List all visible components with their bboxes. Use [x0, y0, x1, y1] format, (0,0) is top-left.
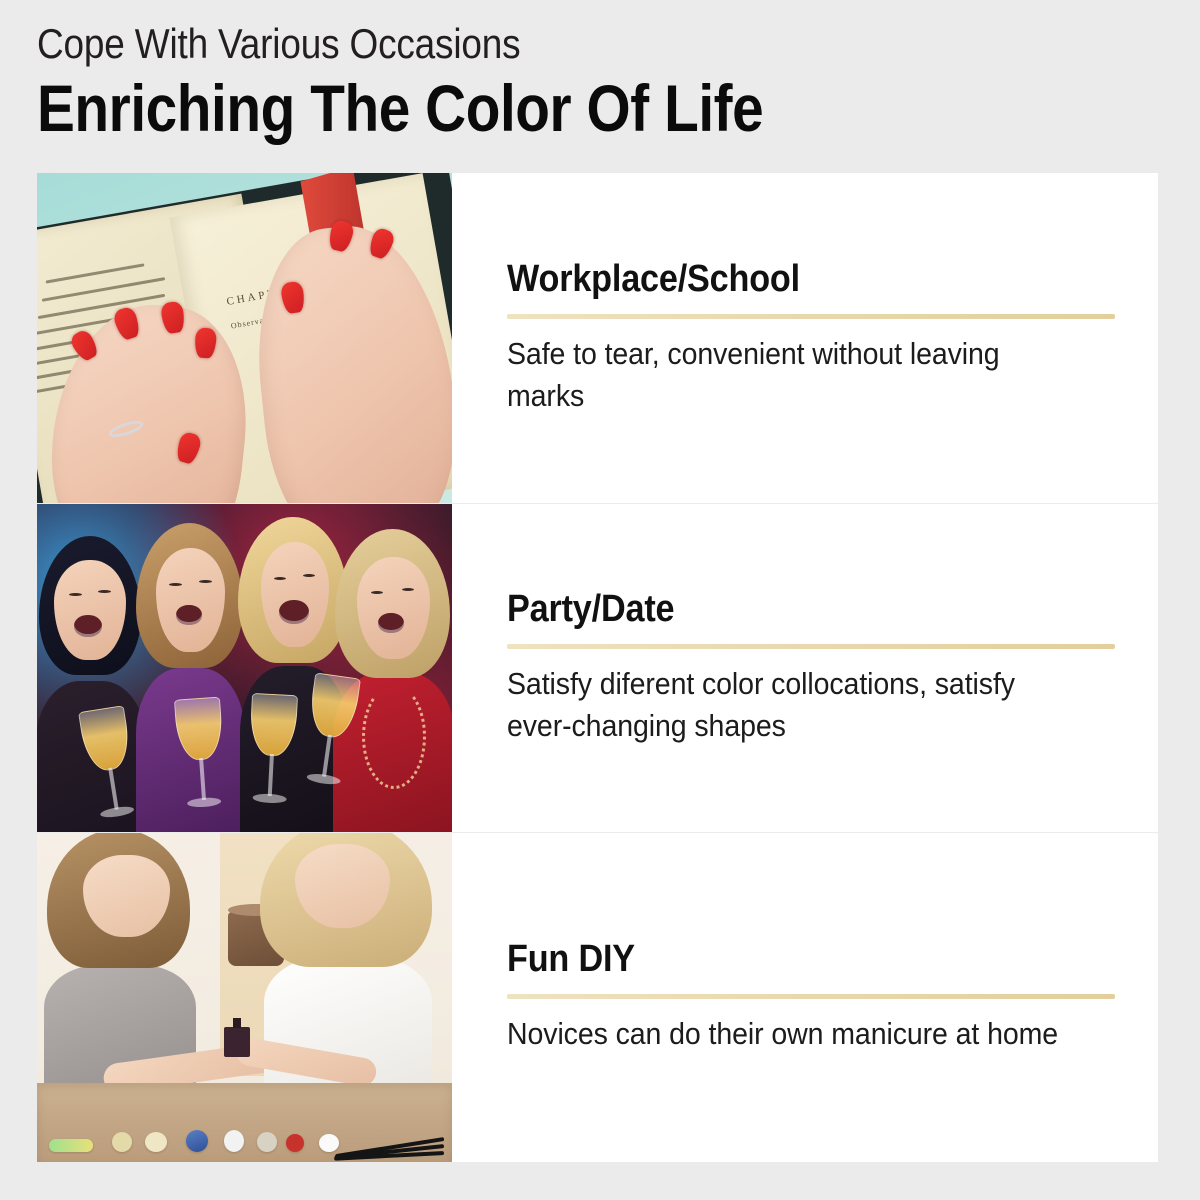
feature-divider-rule — [507, 644, 1115, 649]
nail-polish-bottle — [224, 1027, 250, 1057]
feature-copy-workplace-school: Workplace/School Safe to tear, convenien… — [452, 173, 1173, 503]
feature-title: Fun DIY — [507, 939, 1054, 980]
supply-item-7 — [286, 1134, 304, 1152]
brush-set — [334, 1137, 444, 1155]
page-title: Enriching The Color Of Life — [37, 74, 1000, 143]
feature-copy-party-date: Party/Date Satisfy diferent color colloc… — [452, 504, 1173, 833]
champagne-flute-3 — [246, 693, 298, 813]
feature-row-fun-diy: Fun DIY Novices can do their own manicur… — [37, 832, 1158, 1162]
supply-item-2 — [112, 1132, 132, 1152]
feature-title: Party/Date — [507, 589, 1054, 630]
feature-image-fun-diy — [37, 833, 452, 1162]
supply-item-3 — [145, 1132, 167, 1152]
poster-header: Cope With Various Occasions Enriching Th… — [37, 22, 1157, 143]
supply-item-6 — [257, 1132, 277, 1152]
feature-title: Workplace/School — [507, 259, 1054, 300]
champagne-flute-2 — [174, 696, 228, 817]
feature-description: Safe to tear, convenient without leaving… — [507, 333, 1066, 417]
feature-description: Novices can do their own manicure at hom… — [507, 1013, 1066, 1055]
poster-root: Cope With Various Occasions Enriching Th… — [0, 0, 1200, 1200]
scene-party-toast — [37, 504, 452, 833]
scene-book-manicure: CHAPTER IIObservations — [37, 173, 452, 503]
features-card: CHAPTER IIObservations — [37, 173, 1158, 1162]
supply-item-5 — [224, 1130, 244, 1152]
eyebrow-text: Cope With Various Occasions — [37, 22, 1023, 66]
diy-girl-left — [37, 833, 203, 1083]
feature-row-workplace-school: CHAPTER IIObservations — [37, 173, 1158, 503]
feature-copy-fun-diy: Fun DIY Novices can do their own manicur… — [452, 833, 1173, 1162]
feature-divider-rule — [507, 314, 1115, 319]
feature-description: Satisfy diferent color collocations, sat… — [507, 663, 1066, 747]
scene-diy-manicure — [37, 833, 452, 1162]
feature-row-party-date: Party/Date Satisfy diferent color colloc… — [37, 503, 1158, 833]
supply-item-1 — [49, 1139, 93, 1152]
feature-divider-rule — [507, 994, 1115, 999]
feature-image-workplace-school: CHAPTER IIObservations — [37, 173, 452, 503]
feature-image-party-date — [37, 504, 452, 833]
